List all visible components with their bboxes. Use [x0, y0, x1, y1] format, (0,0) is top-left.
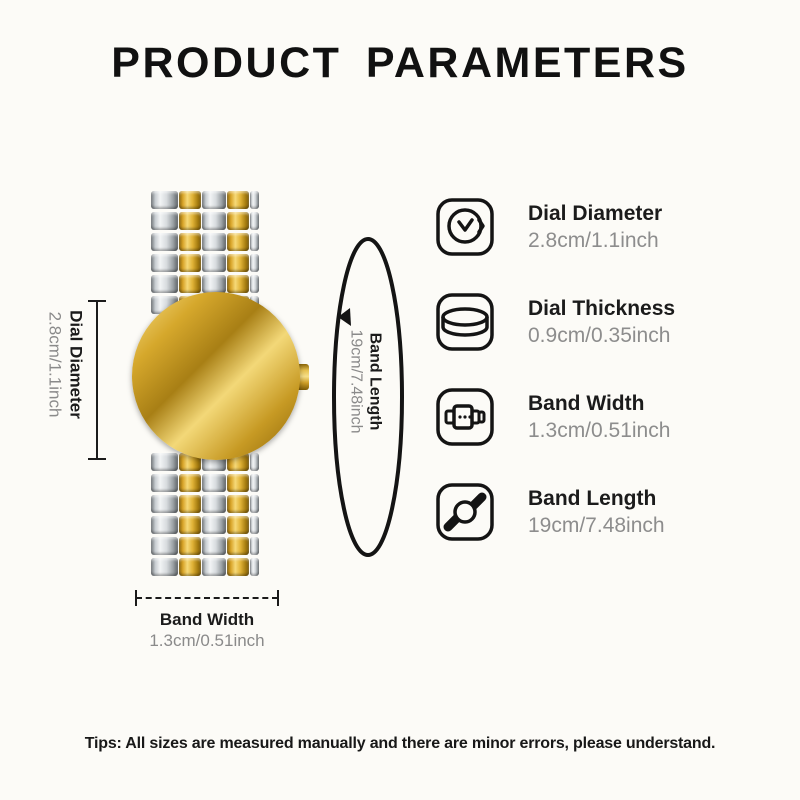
- watch-case: XII IX VI ORUSS 1853 QUARTZ MON 24: [132, 292, 300, 460]
- band-width-label: Band Width: [112, 610, 302, 630]
- band-link-silver: [250, 474, 259, 492]
- band-link-gold: [179, 212, 201, 230]
- band-link-silver: [151, 558, 178, 576]
- band-link-row: [151, 253, 259, 273]
- band-link-silver: [202, 537, 226, 555]
- band-link-silver: [250, 558, 259, 576]
- spec-label: Dial Diameter: [528, 200, 662, 227]
- band-link-row: [151, 515, 259, 535]
- dial-diameter-label: Dial Diameter: [66, 280, 86, 450]
- spec-row-band-width: Band Width 1.3cm/0.51inch: [434, 386, 774, 481]
- spec-text-dial-thickness: Dial Thickness 0.9cm/0.35inch: [528, 295, 675, 350]
- band-link-row: [151, 494, 259, 514]
- band-link-gold: [179, 516, 201, 534]
- watch-band-lower: [151, 452, 259, 585]
- band-link-silver: [151, 453, 178, 471]
- band-link-gold: [179, 495, 201, 513]
- band-link-gold: [179, 537, 201, 555]
- dimension-line-dashed: [136, 597, 278, 599]
- band-link-row: [151, 232, 259, 252]
- spec-text-band-width: Band Width 1.3cm/0.51inch: [528, 390, 670, 445]
- band-link-gold: [227, 212, 249, 230]
- band-link-silver: [202, 254, 226, 272]
- band-width-dimension: Band Width 1.3cm/0.51inch: [132, 590, 282, 650]
- disc-thickness-icon: [434, 291, 496, 353]
- band-link-row: [151, 274, 259, 294]
- watch-bezel: [132, 292, 300, 460]
- tips-note: Tips: All sizes are measured manually an…: [0, 735, 800, 753]
- band-link-silver: [250, 233, 259, 251]
- watch-side-band-icon: [434, 386, 496, 448]
- band-link-gold: [179, 474, 201, 492]
- dial-diameter-dimension-labels: Dial Diameter 2.8cm/1.1inch: [45, 280, 86, 450]
- band-link-silver: [250, 495, 259, 513]
- band-link-gold: [227, 191, 249, 209]
- spec-text-band-length: Band Length 19cm/7.48inch: [528, 485, 665, 540]
- spec-row-dial-thickness: Dial Thickness 0.9cm/0.35inch: [434, 291, 774, 386]
- band-link-silver: [202, 474, 226, 492]
- band-link-row: [151, 536, 259, 556]
- dimension-cap-bottom: [88, 458, 106, 460]
- band-link-silver: [151, 275, 178, 293]
- band-link-gold: [227, 474, 249, 492]
- band-link-gold: [227, 233, 249, 251]
- dimension-tick-right: [277, 590, 279, 606]
- watch-dial-icon: [434, 196, 496, 258]
- dimension-line-vertical: [96, 300, 98, 460]
- band-link-gold: [179, 233, 201, 251]
- band-link-silver: [202, 275, 226, 293]
- band-link-silver: [250, 254, 259, 272]
- band-length-dimension: Band Length 19cm/7.48inch: [312, 232, 424, 562]
- band-link-silver: [202, 558, 226, 576]
- band-link-gold: [227, 495, 249, 513]
- wristwatch-photo: XII IX VI ORUSS 1853 QUARTZ MON 24: [120, 190, 320, 585]
- band-link-silver: [250, 516, 259, 534]
- spec-label: Band Length: [528, 485, 665, 512]
- band-link-silver: [250, 191, 259, 209]
- band-link-gold: [179, 275, 201, 293]
- band-link-silver: [202, 516, 226, 534]
- band-link-silver: [151, 191, 178, 209]
- band-link-gold: [227, 275, 249, 293]
- dial-diameter-value: 2.8cm/1.1inch: [45, 280, 66, 450]
- spec-list: Dial Diameter 2.8cm/1.1inch Dial Thickne…: [434, 196, 774, 576]
- band-link-silver: [202, 495, 226, 513]
- band-link-gold: [227, 537, 249, 555]
- spec-text-dial-diameter: Dial Diameter 2.8cm/1.1inch: [528, 200, 662, 255]
- band-link-gold: [227, 558, 249, 576]
- band-link-silver: [250, 537, 259, 555]
- band-link-gold: [179, 191, 201, 209]
- band-link-silver: [202, 233, 226, 251]
- band-link-silver: [151, 495, 178, 513]
- band-link-row: [151, 211, 259, 231]
- band-link-silver: [151, 212, 178, 230]
- band-link-silver: [250, 453, 259, 471]
- band-length-value: 19cm/7.48inch: [346, 267, 366, 497]
- spec-row-dial-diameter: Dial Diameter 2.8cm/1.1inch: [434, 196, 774, 291]
- spec-value: 0.9cm/0.35inch: [528, 322, 675, 350]
- spec-row-band-length: Band Length 19cm/7.48inch: [434, 481, 774, 576]
- band-link-gold: [179, 558, 201, 576]
- band-link-silver: [250, 212, 259, 230]
- band-link-silver: [250, 275, 259, 293]
- page-title: PRODUCT PARAMETERS: [0, 38, 800, 88]
- spec-label: Dial Thickness: [528, 295, 675, 322]
- band-link-silver: [151, 254, 178, 272]
- band-link-silver: [151, 233, 178, 251]
- band-link-row: [151, 190, 259, 210]
- spec-label: Band Width: [528, 390, 670, 417]
- spec-value: 19cm/7.48inch: [528, 512, 665, 540]
- dial-diameter-dimension: Dial Diameter 2.8cm/1.1inch: [22, 292, 112, 472]
- watch-strap-span-icon: [434, 481, 496, 543]
- band-link-silver: [151, 474, 178, 492]
- band-length-dimension-labels: Band Length 19cm/7.48inch: [346, 267, 385, 497]
- band-link-row: [151, 557, 259, 577]
- spec-value: 2.8cm/1.1inch: [528, 227, 662, 255]
- band-link-row: [151, 473, 259, 493]
- band-link-silver: [151, 537, 178, 555]
- band-width-value: 1.3cm/0.51inch: [112, 631, 302, 651]
- band-link-gold: [179, 254, 201, 272]
- band-link-gold: [227, 254, 249, 272]
- band-link-silver: [202, 212, 226, 230]
- spec-value: 1.3cm/0.51inch: [528, 417, 670, 445]
- band-link-silver: [151, 516, 178, 534]
- product-parameters-infographic: PRODUCT PARAMETERS Dial Diameter 2.8cm/1…: [0, 0, 800, 800]
- band-length-label: Band Length: [366, 267, 385, 497]
- band-link-gold: [227, 516, 249, 534]
- band-link-silver: [202, 191, 226, 209]
